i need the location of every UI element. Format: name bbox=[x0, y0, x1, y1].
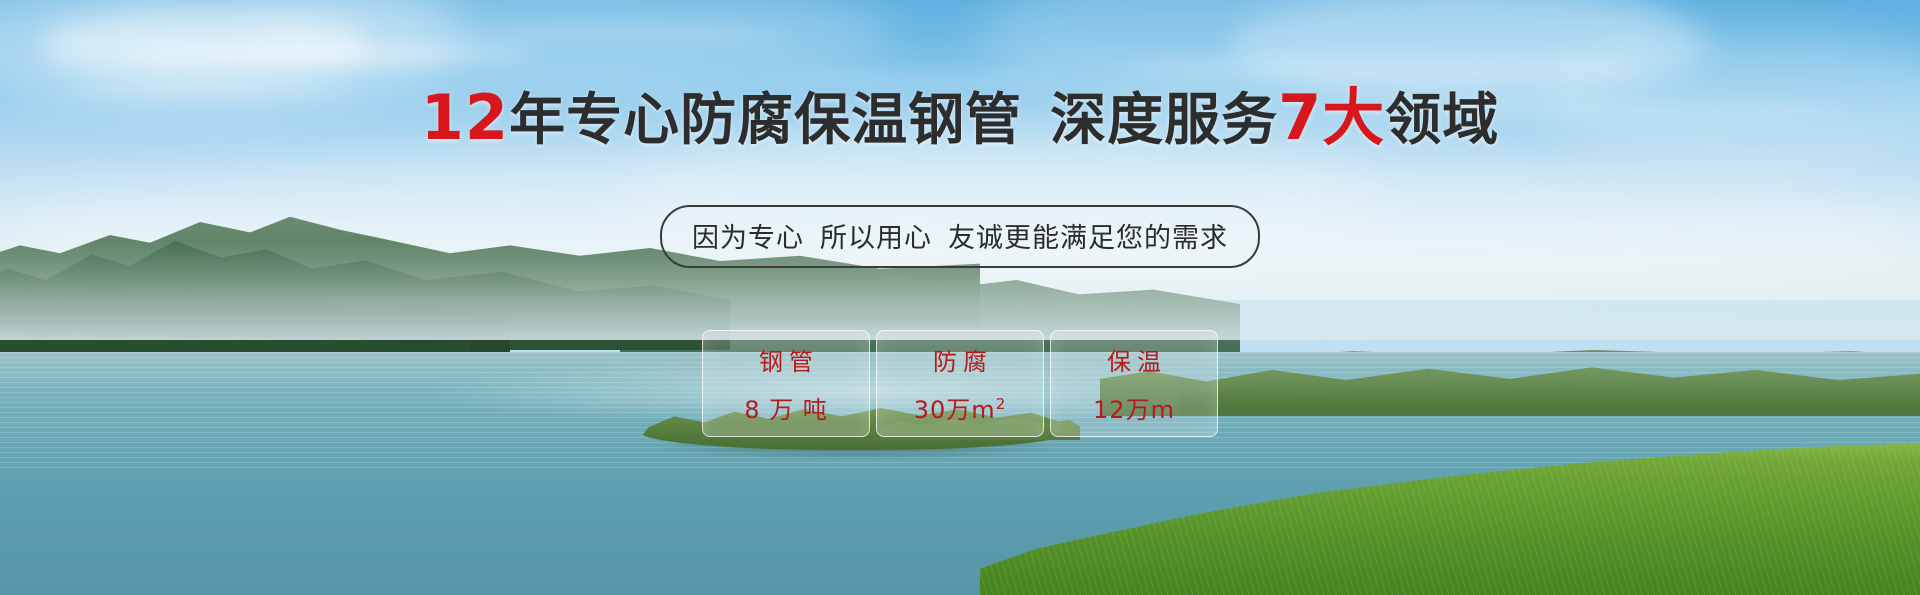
stat-card-title: 保温 bbox=[1101, 342, 1167, 377]
banner-content: 12年专心防腐保温钢管深度服务7大领域 因为专心所以用心友诚更能满足您的需求 钢… bbox=[0, 0, 1920, 595]
headline-fields-count: 7大 bbox=[1278, 81, 1385, 154]
tagline-part-3: 友诚更能满足您的需求 bbox=[948, 223, 1228, 254]
hero-banner: 12年专心防腐保温钢管深度服务7大领域 因为专心所以用心友诚更能满足您的需求 钢… bbox=[0, 0, 1920, 595]
stat-card-value-superscript: 2 bbox=[996, 395, 1007, 413]
headline-years-number: 12 bbox=[421, 81, 509, 154]
headline-service-text: 深度服务 bbox=[1050, 88, 1278, 153]
stat-card-value-main: 30万m bbox=[914, 396, 996, 424]
headline-main-text: 年专心防腐保温钢管 bbox=[509, 88, 1022, 153]
stat-card-insulation[interactable]: 保温 12万m bbox=[1050, 330, 1218, 437]
stat-card-steel-pipe[interactable]: 钢管 8 万 吨 bbox=[702, 330, 870, 437]
stat-card-group: 钢管 8 万 吨 防腐 30万m2 保温 12万m bbox=[702, 330, 1218, 437]
tagline-part-2: 所以用心 bbox=[820, 223, 932, 254]
banner-tagline-pill: 因为专心所以用心友诚更能满足您的需求 bbox=[660, 205, 1260, 268]
tagline-part-1: 因为专心 bbox=[692, 223, 804, 254]
stat-card-value: 30万m2 bbox=[914, 390, 1006, 425]
banner-headline: 12年专心防腐保温钢管深度服务7大领域 bbox=[0, 86, 1920, 153]
stat-card-title: 钢管 bbox=[753, 342, 819, 377]
stat-card-value: 12万m bbox=[1093, 390, 1175, 425]
headline-fields-text: 领域 bbox=[1385, 88, 1499, 153]
stat-card-value: 8 万 吨 bbox=[744, 390, 828, 425]
stat-card-title: 防腐 bbox=[927, 342, 993, 377]
stat-card-anticorrosion[interactable]: 防腐 30万m2 bbox=[876, 330, 1044, 437]
